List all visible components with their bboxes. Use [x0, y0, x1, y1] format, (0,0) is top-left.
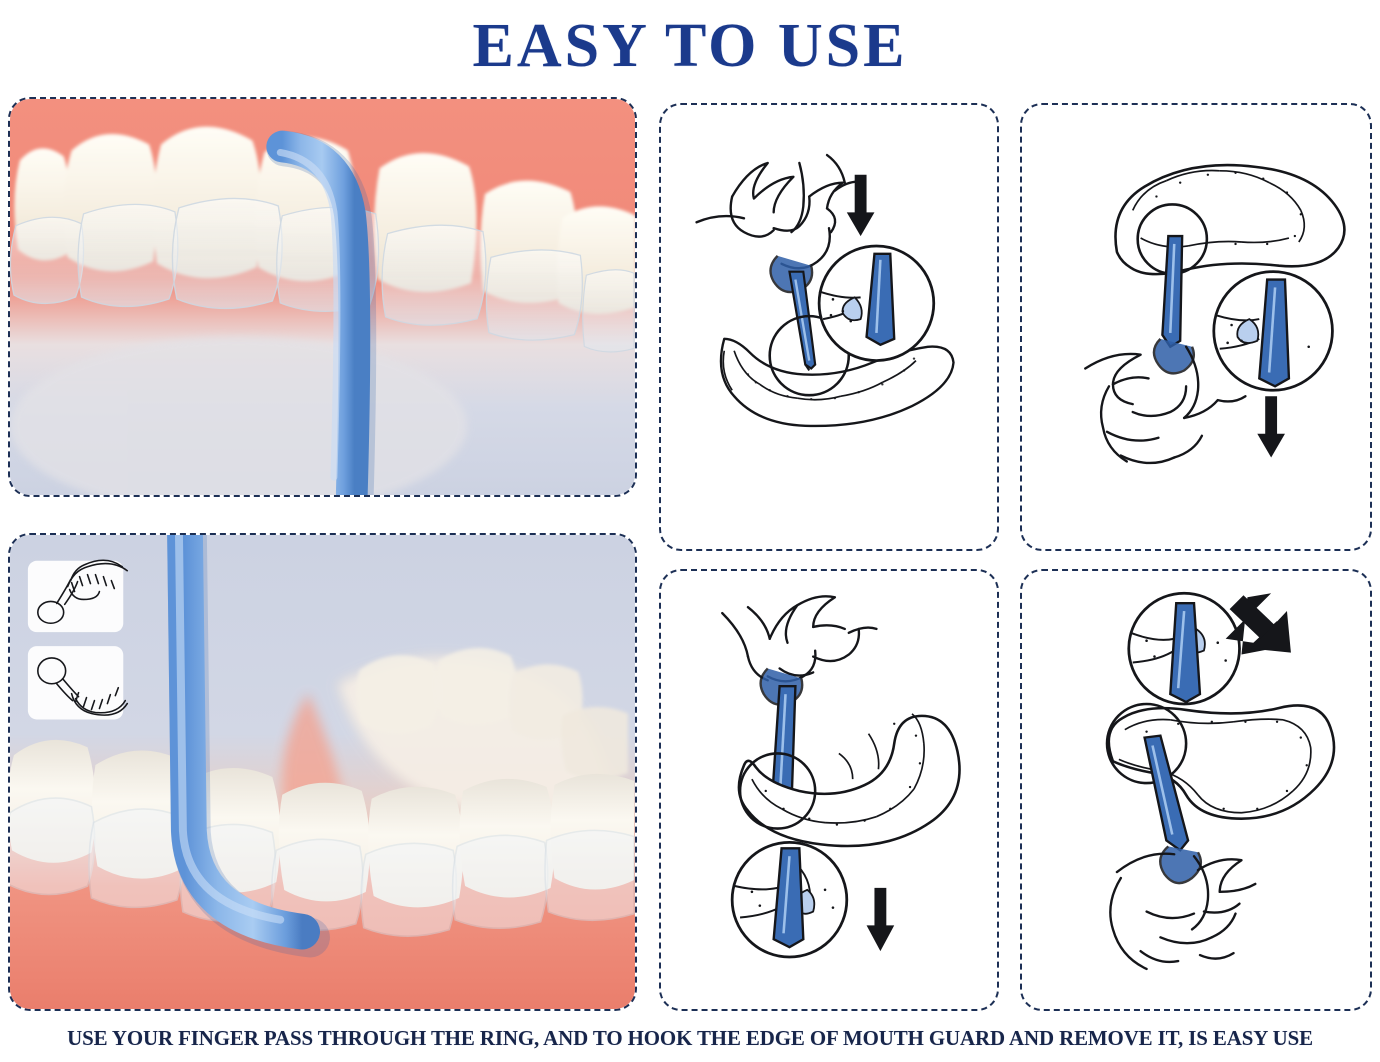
page-title: EASY TO USE: [472, 11, 907, 82]
lower-arch-photo: [8, 533, 637, 1011]
lower-arch-photo-graphic: [10, 535, 635, 1009]
step-panel-lower-insert: [659, 569, 999, 1011]
step-panel-upper-insert-graphic: [661, 105, 997, 549]
instruction-caption: USE YOUR FINGER PASS THROUGH THE RING, A…: [67, 1026, 1313, 1051]
step-panel-lower-remove: [1020, 569, 1372, 1011]
step-panel-lower-remove-graphic: [1022, 571, 1370, 1009]
arrow-down-icon: [1257, 396, 1285, 457]
inset-thumbnail-lower: [28, 646, 127, 719]
upper-arch-photo-graphic: [10, 99, 635, 495]
content-grid: [8, 97, 1372, 1011]
step-panel-upper-remove-graphic: [1022, 105, 1370, 549]
step-panel-upper-insert: [659, 103, 999, 551]
step-panel-upper-remove: [1020, 103, 1372, 551]
arrow-up-icon: [867, 888, 895, 951]
step-panel-lower-insert-graphic: [661, 571, 997, 1009]
upper-arch-photo: [8, 97, 637, 497]
arrow-up-icon: [847, 175, 875, 236]
inset-thumbnail-upper: [28, 560, 127, 632]
caption-bar: USE YOUR FINGER PASS THROUGH THE RING, A…: [0, 1018, 1380, 1058]
title-bar: EASY TO USE: [0, 2, 1380, 90]
